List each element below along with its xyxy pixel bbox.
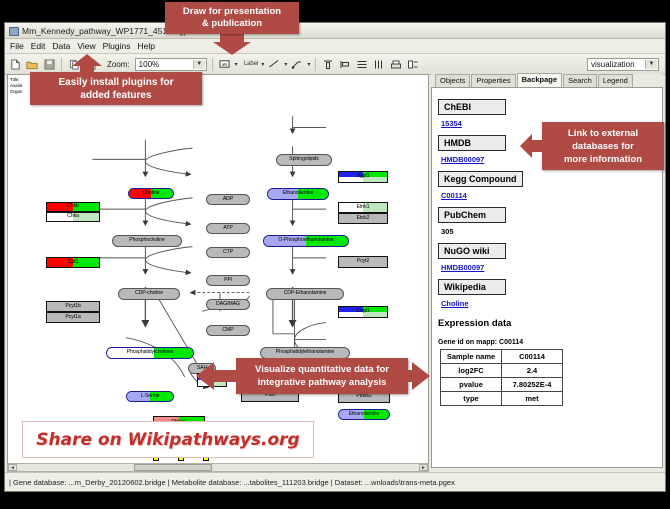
toolbar-separator-3 <box>315 58 316 71</box>
metabolite-node-phosphatidylcholines[interactable]: Phosphatidylcholines <box>106 347 194 359</box>
chevron-down-icon-3[interactable]: ▾ <box>261 61 264 68</box>
callout-link-line2: databases for <box>572 140 634 153</box>
database-link-nugo-wiki[interactable]: HMDB00097 <box>441 263 656 272</box>
node-label: Ethanolamine <box>283 191 314 196</box>
table-row: log2FC2.4 <box>441 364 563 378</box>
node-label: CDP-Ethanolamine <box>284 291 327 296</box>
node-label: Phosphocholine <box>129 238 165 243</box>
gene-node-cept1[interactable]: Cept1 <box>338 306 388 318</box>
expression-key: log2FC <box>441 364 502 378</box>
callout-visualize: Visualize quantitative data for integrat… <box>236 358 408 394</box>
expression-value: 2.4 <box>502 364 563 378</box>
node-label: Sgpl1 <box>357 174 370 179</box>
zoom-label: Zoom: <box>107 60 130 69</box>
metabolite-node-phosphocholine[interactable]: Phosphocholine <box>112 235 182 247</box>
callout-plugins-line1: Easily install plugins for <box>58 76 173 89</box>
expression-value: C00114 <box>502 350 563 364</box>
node-label: Pcyt1a <box>65 315 80 320</box>
node-label: Phosphatidylcholines <box>127 350 174 355</box>
node-label: Ethanolamine <box>349 412 380 417</box>
align-top-icon[interactable] <box>321 57 335 71</box>
chevron-down-icon-4[interactable]: ▾ <box>284 61 287 68</box>
app-icon <box>9 26 18 35</box>
callout-visualize-line2: integrative pathway analysis <box>258 376 387 389</box>
screenshot-root: Mm_Kennedy_pathway_WP1771_45176.gpml Fil… <box>0 0 670 509</box>
node-label: Pcyt2 <box>357 259 369 264</box>
node-label: Chka <box>67 214 79 219</box>
expression-key: type <box>441 392 502 406</box>
chevron-down-icon-5[interactable]: ▾ <box>307 61 310 68</box>
pathway-diagram: Title: Availa Organ <box>8 75 428 467</box>
expression-key: Sample name <box>441 350 502 364</box>
save-icon[interactable] <box>42 57 56 71</box>
menu-item-edit[interactable]: Edit <box>31 41 46 51</box>
metabolite-node-cdp-choline[interactable]: CDP-choline <box>118 288 180 300</box>
visualization-value: visualization <box>591 60 635 69</box>
node-label: Cpt1 <box>68 260 79 265</box>
table-row: Sample nameC00114 <box>441 350 563 364</box>
tab-objects[interactable]: Objects <box>435 74 470 87</box>
node-label: Cept1 <box>356 309 369 314</box>
metabolite-node-dag-mag[interactable]: DAG/MAG <box>206 299 250 310</box>
gene-node-pcyt2[interactable]: Pcyt2 <box>338 256 388 268</box>
gene-node-sgpl1[interactable]: Sgpl1 <box>338 171 388 183</box>
new-file-icon[interactable] <box>8 57 22 71</box>
align-left-icon[interactable] <box>338 57 352 71</box>
gene-node-pcyt1a[interactable]: Pcyt1a <box>46 312 100 323</box>
callout-visualize-line1: Visualize quantitative data for <box>255 363 389 376</box>
metabolite-node-ppi[interactable]: PPi <box>206 275 250 286</box>
tab-backpage[interactable]: Backpage <box>517 73 562 87</box>
title-bar: Mm_Kennedy_pathway_WP1771_45176.gpml <box>5 23 665 39</box>
node-label: Pcyt1b <box>65 304 80 309</box>
node-label: Pisd <box>265 393 275 398</box>
callout-plugins-arrow-icon <box>72 54 102 74</box>
gene-node-cpt1[interactable]: Cpt1 <box>46 257 100 268</box>
expression-value: met <box>502 392 563 406</box>
database-name-wikipedia: Wikipedia <box>438 279 506 295</box>
visualization-combo[interactable]: visualization ▼ <box>587 58 659 71</box>
node-label: ATP <box>223 226 232 231</box>
table-row: pvalue7.80252E-4 <box>441 378 563 392</box>
menu-item-data[interactable]: Data <box>52 41 70 51</box>
database-link-wikipedia[interactable]: Choline <box>441 299 656 308</box>
callout-link-line1: Link to external <box>568 127 638 140</box>
callout-link-line3: more information <box>564 153 642 166</box>
menu-item-file[interactable]: File <box>10 41 24 51</box>
canvas-horizontal-scrollbar[interactable]: ◄ ► <box>7 463 429 472</box>
callout-draw-line1: Draw for presentation <box>183 6 281 18</box>
gene-id-line: Gene id on mapp: C00114 <box>438 339 656 346</box>
gene-node-chkb[interactable]: Chkb <box>46 202 100 212</box>
node-label: ADP <box>223 197 233 202</box>
metabolite-node-adp[interactable]: ADP <box>206 194 250 205</box>
svg-text:aN: aN <box>222 62 228 67</box>
tab-properties[interactable]: Properties <box>471 74 515 87</box>
gene-node-etnk1[interactable]: Etnk1 <box>338 202 388 213</box>
node-label: PPi <box>224 278 232 283</box>
tab-legend[interactable]: Legend <box>598 74 633 87</box>
node-label: CMP <box>222 328 233 333</box>
node-label: O-Phosphoethanolamine <box>278 238 333 243</box>
node-label: Phosphatidylethanolamine <box>276 350 334 355</box>
database-name-chebi: ChEBI <box>438 99 506 115</box>
scroll-right-arrow-icon[interactable]: ► <box>419 464 428 471</box>
metabolite-node-ctp[interactable]: CTP <box>206 247 250 258</box>
metabolite-node-choline-top[interactable]: Choline <box>128 188 174 199</box>
node-label: Etnk1 <box>357 205 370 210</box>
arc-icon[interactable] <box>290 57 304 71</box>
line-icon[interactable] <box>267 57 281 71</box>
node-label: Sphingolipids <box>289 157 319 162</box>
chevron-down-icon-6[interactable]: ▼ <box>645 60 657 69</box>
data-node-icon[interactable]: aN <box>218 57 232 71</box>
callout-visualize-arrow-left-icon <box>196 362 238 390</box>
zoom-combo[interactable]: 100% ▼ <box>135 58 207 71</box>
metabolite-node-ethanolamine-top[interactable]: Ethanolamine <box>267 188 329 200</box>
pathway-info-text: Title: Availa Organ <box>10 77 23 95</box>
node-label: L-Serine <box>141 394 160 399</box>
metabolite-node-o-phosphoethanolamine[interactable]: O-Phosphoethanolamine <box>263 235 349 247</box>
scroll-left-arrow-icon[interactable]: ◄ <box>8 464 17 471</box>
chevron-down-icon[interactable]: ▼ <box>193 60 205 69</box>
callout-draw-line2: & publication <box>202 18 262 30</box>
database-value-pubchem: 305 <box>441 227 656 236</box>
side-panel-tabs: Objects Properties Backpage Search Legen… <box>431 74 663 87</box>
status-bar: | Gene database: ...m_Derby_20120602.bri… <box>5 472 665 491</box>
node-label: Etnk2 <box>357 216 370 221</box>
node-label: Ptdss2 <box>356 394 371 399</box>
toolbar-separator <box>61 58 62 71</box>
database-name-nugo-wiki: NuGO wiki <box>438 243 506 259</box>
menu-item-plugins[interactable]: Plugins <box>103 41 131 51</box>
gene-node-etnk2[interactable]: Etnk2 <box>338 213 388 224</box>
expression-key: pvalue <box>441 378 502 392</box>
table-row: typemet <box>441 392 563 406</box>
expression-data-header: Expression data <box>438 318 656 329</box>
distribute-vertical-icon[interactable] <box>355 57 369 71</box>
callout-plugins-line2: added features <box>80 89 151 102</box>
pathway-canvas[interactable]: Title: Availa Organ <box>7 74 429 468</box>
menu-item-help[interactable]: Help <box>138 41 155 51</box>
gene-node-pcyt1b[interactable]: Pcyt1b <box>46 301 100 312</box>
open-folder-icon[interactable] <box>25 57 39 71</box>
metabolite-node-cdp-ethanolamine[interactable]: CDP-Ethanolamine <box>266 288 344 300</box>
database-name-hmdb: HMDB <box>438 135 506 151</box>
node-label: DAG/MAG <box>216 302 240 307</box>
callout-plugins: Easily install plugins for added feature… <box>30 72 202 105</box>
metabolite-node-cmp[interactable]: CMP <box>206 325 250 336</box>
chevron-down-icon-2[interactable]: ▾ <box>235 61 238 68</box>
callout-draw: Draw for presentation & publication <box>165 2 299 34</box>
node-label: Chkb <box>67 204 79 209</box>
tab-search[interactable]: Search <box>563 74 597 87</box>
pathway-organism-label: Organ <box>10 89 23 95</box>
metabolite-node-l-serine-left[interactable]: L-Serine <box>126 391 174 402</box>
node-label: CTP <box>223 250 233 255</box>
menu-item-view[interactable]: View <box>77 41 95 51</box>
share-banner-text: Share on Wikipathways.org <box>36 430 299 450</box>
callout-link: Link to external databases for more info… <box>542 122 664 170</box>
callout-visualize-arrow-right-icon <box>406 362 430 390</box>
database-name-kegg-compound: Kegg Compound <box>438 171 523 187</box>
share-banner: Share on Wikipathways.org <box>22 421 314 458</box>
label-tool-label[interactable]: Label <box>244 61 259 67</box>
distribute-horizontal-icon[interactable] <box>372 57 386 71</box>
database-name-pubchem: PubChem <box>438 207 506 223</box>
metabolite-node-sphingolipids[interactable]: Sphingolipids <box>276 154 332 166</box>
metabolite-node-atp[interactable]: ATP <box>206 223 250 234</box>
status-text: | Gene database: ...m_Derby_20120602.bri… <box>9 478 455 487</box>
expression-table: Sample nameC00114log2FC2.4pvalue7.80252E… <box>440 349 563 406</box>
metabolite-node-ethanolamine-bottom[interactable]: Ethanolamine <box>338 409 390 420</box>
node-label: Choline <box>143 191 160 196</box>
gene-node-chka[interactable]: Chka <box>46 212 100 222</box>
menu-bar: File Edit Data View Plugins Help <box>5 39 665 54</box>
callout-link-arrow-icon <box>520 134 544 158</box>
stack-icon[interactable] <box>389 57 403 71</box>
node-label: CDP-choline <box>135 291 163 296</box>
toolbar-separator-2 <box>212 58 213 71</box>
database-link-kegg-compound[interactable]: C00114 <box>441 191 656 200</box>
order-icon[interactable] <box>406 57 420 71</box>
zoom-value: 100% <box>139 60 159 69</box>
callout-draw-arrow-icon <box>213 33 251 55</box>
expression-value: 7.80252E-4 <box>502 378 563 392</box>
scrollbar-thumb[interactable] <box>134 464 212 471</box>
